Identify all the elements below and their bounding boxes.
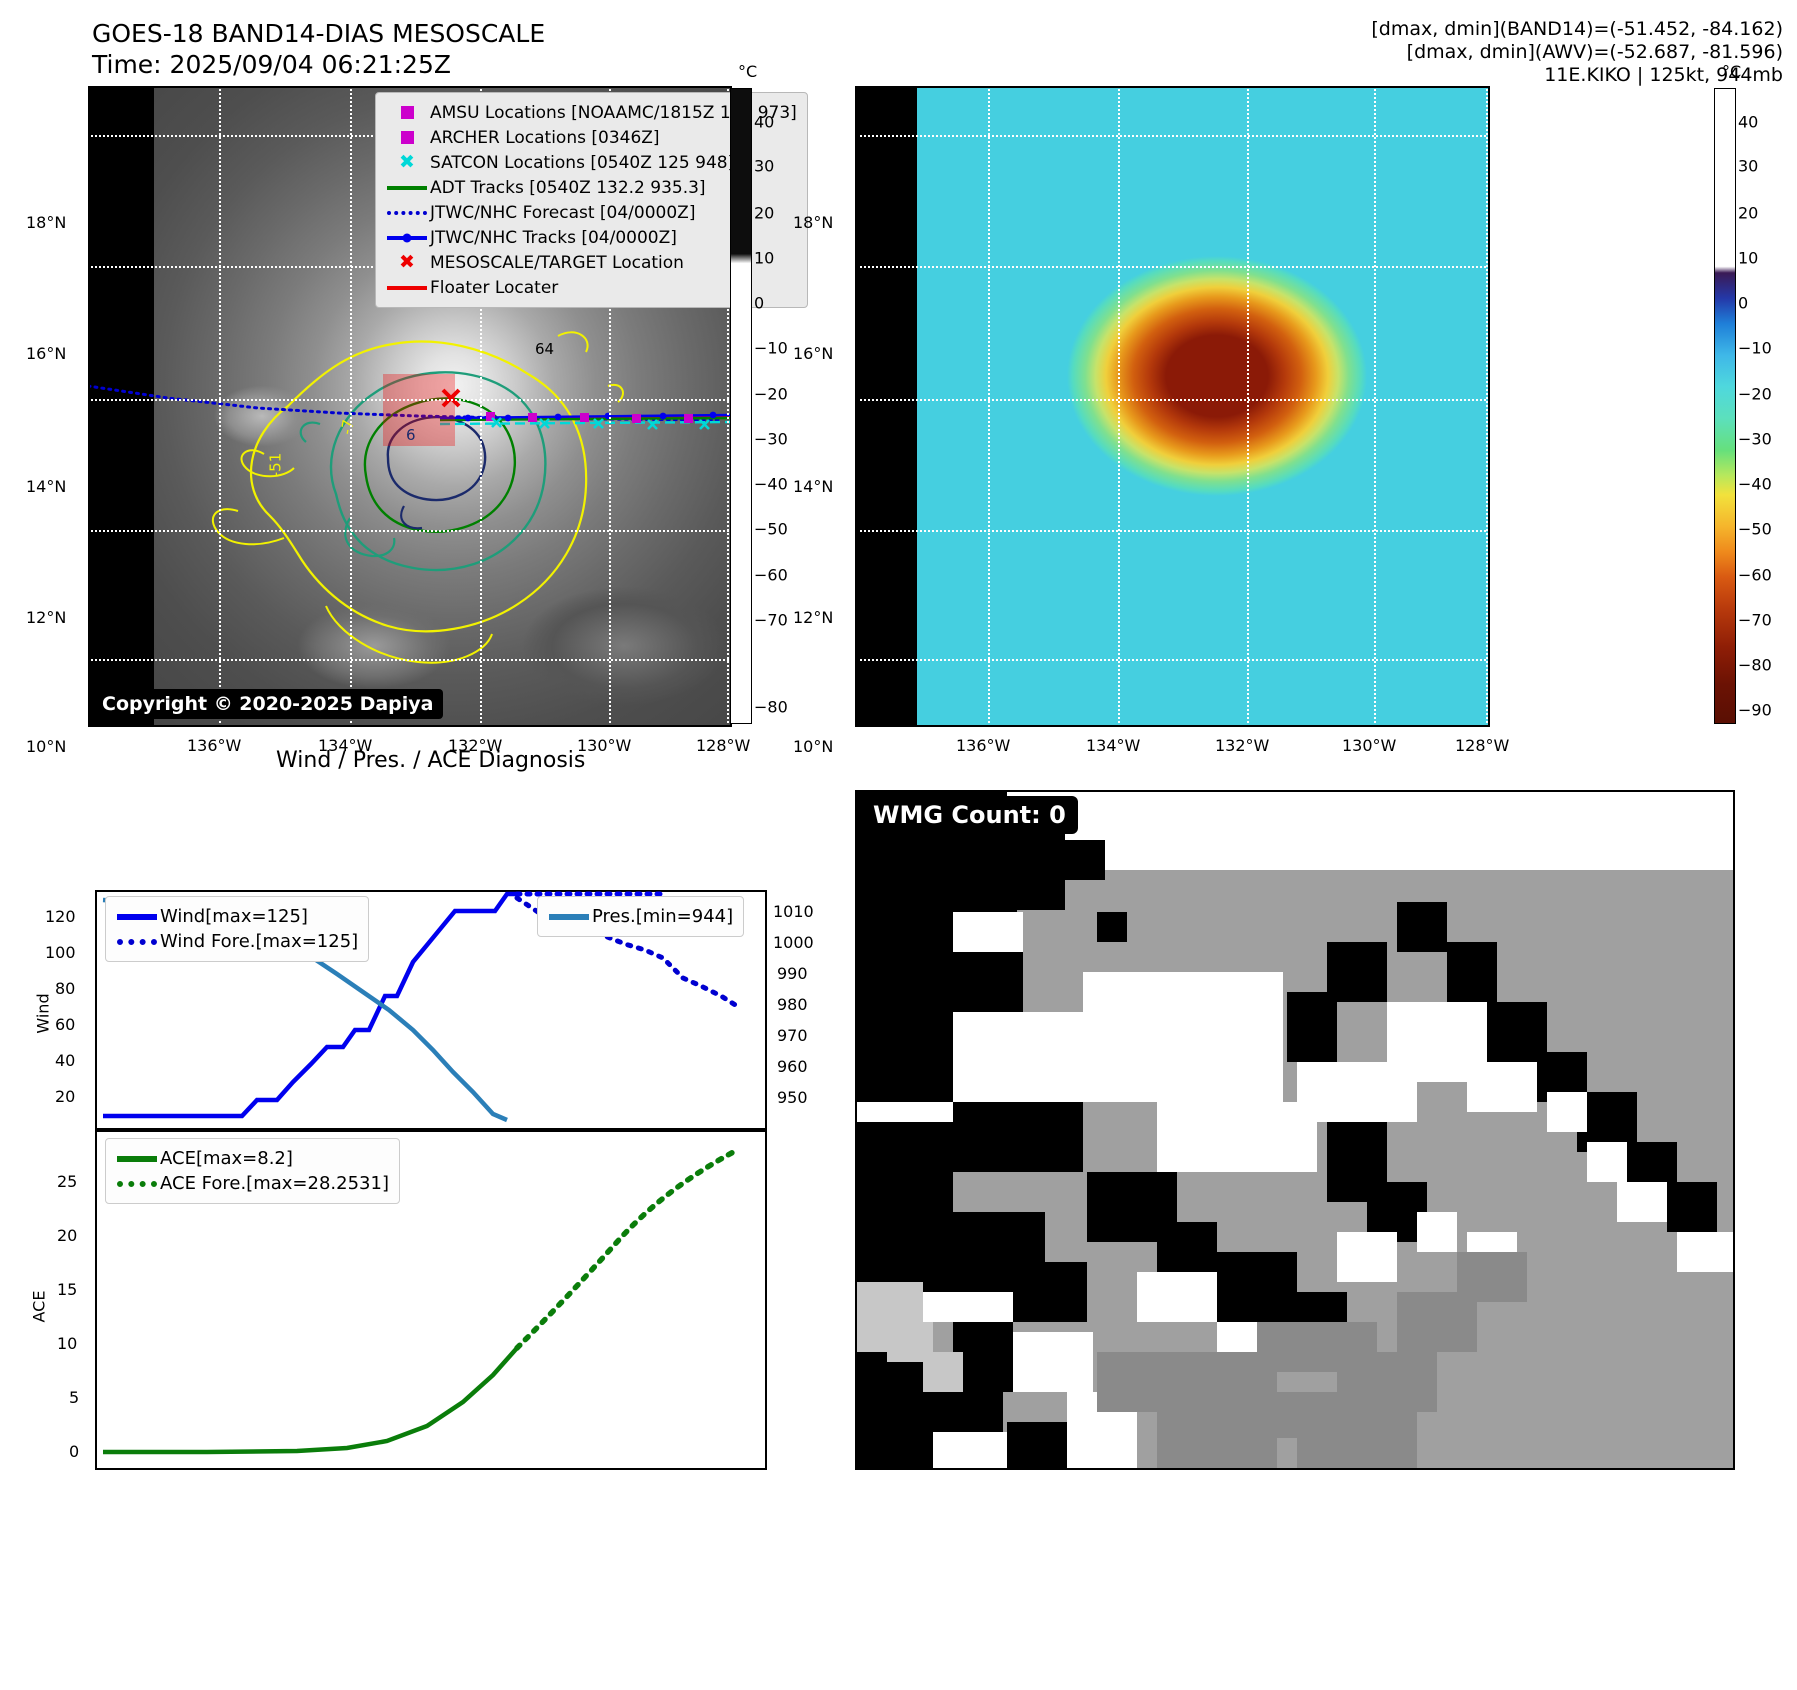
green-dotted-line-icon — [114, 1181, 160, 1187]
legend-label: JTWC/NHC Tracks [04/0000Z] — [430, 228, 677, 248]
awv-xtick: 134°W — [1086, 736, 1140, 755]
legend-label: Wind[max=125] — [160, 906, 308, 927]
ir-ytick: 10°N — [26, 737, 66, 756]
awv-xtick: 128°W — [1455, 736, 1509, 755]
wind-ytick: 120 — [45, 907, 76, 926]
ace-ytick: 15 — [57, 1280, 77, 1299]
blue-dotted-line-icon — [384, 211, 430, 215]
ace-ytick: 20 — [57, 1226, 77, 1245]
wind-ytick: 80 — [55, 979, 75, 998]
wind-ytick: 20 — [55, 1087, 75, 1106]
pressure-ytick: 970 — [777, 1026, 808, 1045]
magenta-square-icon — [384, 131, 430, 144]
ace-ytick: 10 — [57, 1334, 77, 1353]
ir-colorbar-ticks: 40 30 20 10 0 −10 −20 −30 −40 −50 −60 −7… — [730, 88, 752, 724]
red-line-icon — [384, 286, 430, 290]
green-line-icon — [384, 186, 430, 190]
wmg-mask-image — [857, 792, 1733, 1468]
pressure-ytick: 960 — [777, 1057, 808, 1076]
dmax-dmin-awv: [dmax, dmin](AWV)=(-52.687, -81.596) — [1371, 41, 1783, 64]
magenta-square-icon — [384, 106, 430, 119]
legend-label: Wind Fore.[max=125] — [160, 931, 358, 952]
ir-ytick: 14°N — [26, 477, 66, 496]
legend-label: SATCON Locations [0540Z 125 948] — [430, 153, 734, 173]
awv-cloud-field — [917, 86, 1490, 727]
awv-xtick: 136°W — [956, 736, 1010, 755]
awv-ytick: 14°N — [793, 477, 833, 496]
legend-item-wind-forecast[interactable]: Wind Fore.[max=125] — [114, 929, 358, 954]
wind-legend: Wind[max=125] Wind Fore.[max=125] — [105, 896, 369, 962]
title-line-1: GOES-18 BAND14-DIAS MESOSCALE — [92, 18, 545, 49]
pressure-ytick: 1000 — [773, 933, 814, 952]
ir-ytick: 16°N — [26, 344, 66, 363]
steel-line-icon — [546, 914, 592, 920]
legend-label: MESOSCALE/TARGET Location — [430, 253, 684, 273]
wind-ytick: 40 — [55, 1051, 75, 1070]
ace-axis-label: ACE — [29, 1291, 48, 1323]
blue-line-point-icon — [384, 236, 430, 240]
panel-ace[interactable]: ACE[max=8.2] ACE Fore.[max=28.2531] 0 5 … — [95, 1130, 767, 1470]
wind-ytick: 100 — [45, 943, 76, 962]
wind-ytick: 60 — [55, 1015, 75, 1034]
panel-wind-pressure[interactable]: Wind[max=125] Wind Fore.[max=125] Pres.[… — [95, 890, 767, 1130]
ace-ytick: 25 — [57, 1172, 77, 1191]
legend-label: Pres.[min=944] — [592, 906, 733, 927]
ir-ytick: 18°N — [26, 213, 66, 232]
contour-label-6: 6 — [406, 426, 416, 444]
legend-label: JTWC/NHC Forecast [04/0000Z] — [430, 203, 695, 223]
pressure-ytick: 990 — [777, 964, 808, 983]
ace-legend: ACE[max=8.2] ACE Fore.[max=28.2531] — [105, 1138, 400, 1204]
awv-xtick: 132°W — [1215, 736, 1269, 755]
contour-label-64: 64 — [535, 340, 554, 358]
ace-ytick: 0 — [69, 1442, 79, 1461]
green-line-icon — [114, 1156, 160, 1162]
contour-label-neg51: -51 — [266, 453, 284, 478]
pressure-legend: Pres.[min=944] — [537, 896, 744, 937]
contour-label-neg7: -7 — [337, 418, 357, 436]
dmax-dmin-band14: [dmax, dmin](BAND14)=(-51.452, -84.162) — [1371, 18, 1783, 41]
ir-xtick: 136°W — [187, 736, 241, 755]
legend-item-ace-forecast[interactable]: ACE Fore.[max=28.2531] — [114, 1171, 389, 1196]
legend-item-wind[interactable]: Wind[max=125] — [114, 904, 358, 929]
blue-line-icon — [114, 914, 160, 920]
legend-label: ADT Tracks [0540Z 132.2 935.3] — [430, 178, 706, 198]
pressure-ytick: 980 — [777, 995, 808, 1014]
title-line-2: Time: 2025/09/04 06:21:25Z — [92, 49, 545, 80]
copyright-badge: Copyright © 2020-2025 Dapiya — [92, 689, 443, 719]
legend-label: ACE[max=8.2] — [160, 1148, 293, 1169]
page-title: GOES-18 BAND14-DIAS MESOSCALE Time: 2025… — [92, 18, 545, 80]
wmg-count-badge: WMG Count: 0 — [861, 796, 1078, 834]
cyan-x-icon: ✖ — [384, 153, 430, 172]
diagnosis-title: Wind / Pres. / ACE Diagnosis — [276, 748, 585, 773]
awv-colorbar-ticks: 40 30 20 10 0 −10 −20 −30 −40 −50 −60 −7… — [1714, 88, 1736, 724]
legend-item-pressure[interactable]: Pres.[min=944] — [546, 904, 733, 929]
legend-label: ACE Fore.[max=28.2531] — [160, 1173, 389, 1194]
ir-colorbar-unit: °C — [738, 62, 757, 81]
awv-ytick: 18°N — [793, 213, 833, 232]
awv-ytick: 10°N — [793, 737, 833, 756]
blue-dotted-line-icon — [114, 939, 160, 945]
panel-wmg[interactable]: WMG Count: 0 — [855, 790, 1735, 1470]
pressure-ytick: 1010 — [773, 902, 814, 921]
awv-satellite-image[interactable] — [855, 86, 1490, 727]
awv-ytick: 12°N — [793, 608, 833, 627]
legend-label: Floater Locater — [430, 278, 558, 298]
wind-axis-label: Wind — [34, 993, 53, 1033]
pressure-ytick: 950 — [777, 1088, 808, 1107]
panel-awv[interactable]: 18°N 16°N 14°N 12°N 10°N 136°W 134°W 132… — [855, 86, 1490, 727]
awv-colorbar-unit: °C — [1722, 62, 1741, 81]
legend-label: ARCHER Locations [0346Z] — [430, 128, 660, 148]
awv-xtick: 130°W — [1342, 736, 1396, 755]
awv-ytick: 16°N — [793, 344, 833, 363]
ace-ytick: 5 — [69, 1388, 79, 1407]
ir-xtick: 128°W — [696, 736, 750, 755]
legend-item-ace[interactable]: ACE[max=8.2] — [114, 1146, 389, 1171]
red-x-icon: ✖ — [384, 253, 430, 272]
panel-ir-band14[interactable]: 64 -51 -7 6 AMSU Locations [NOAAMC/1815Z… — [88, 86, 732, 727]
ir-ytick: 12°N — [26, 608, 66, 627]
